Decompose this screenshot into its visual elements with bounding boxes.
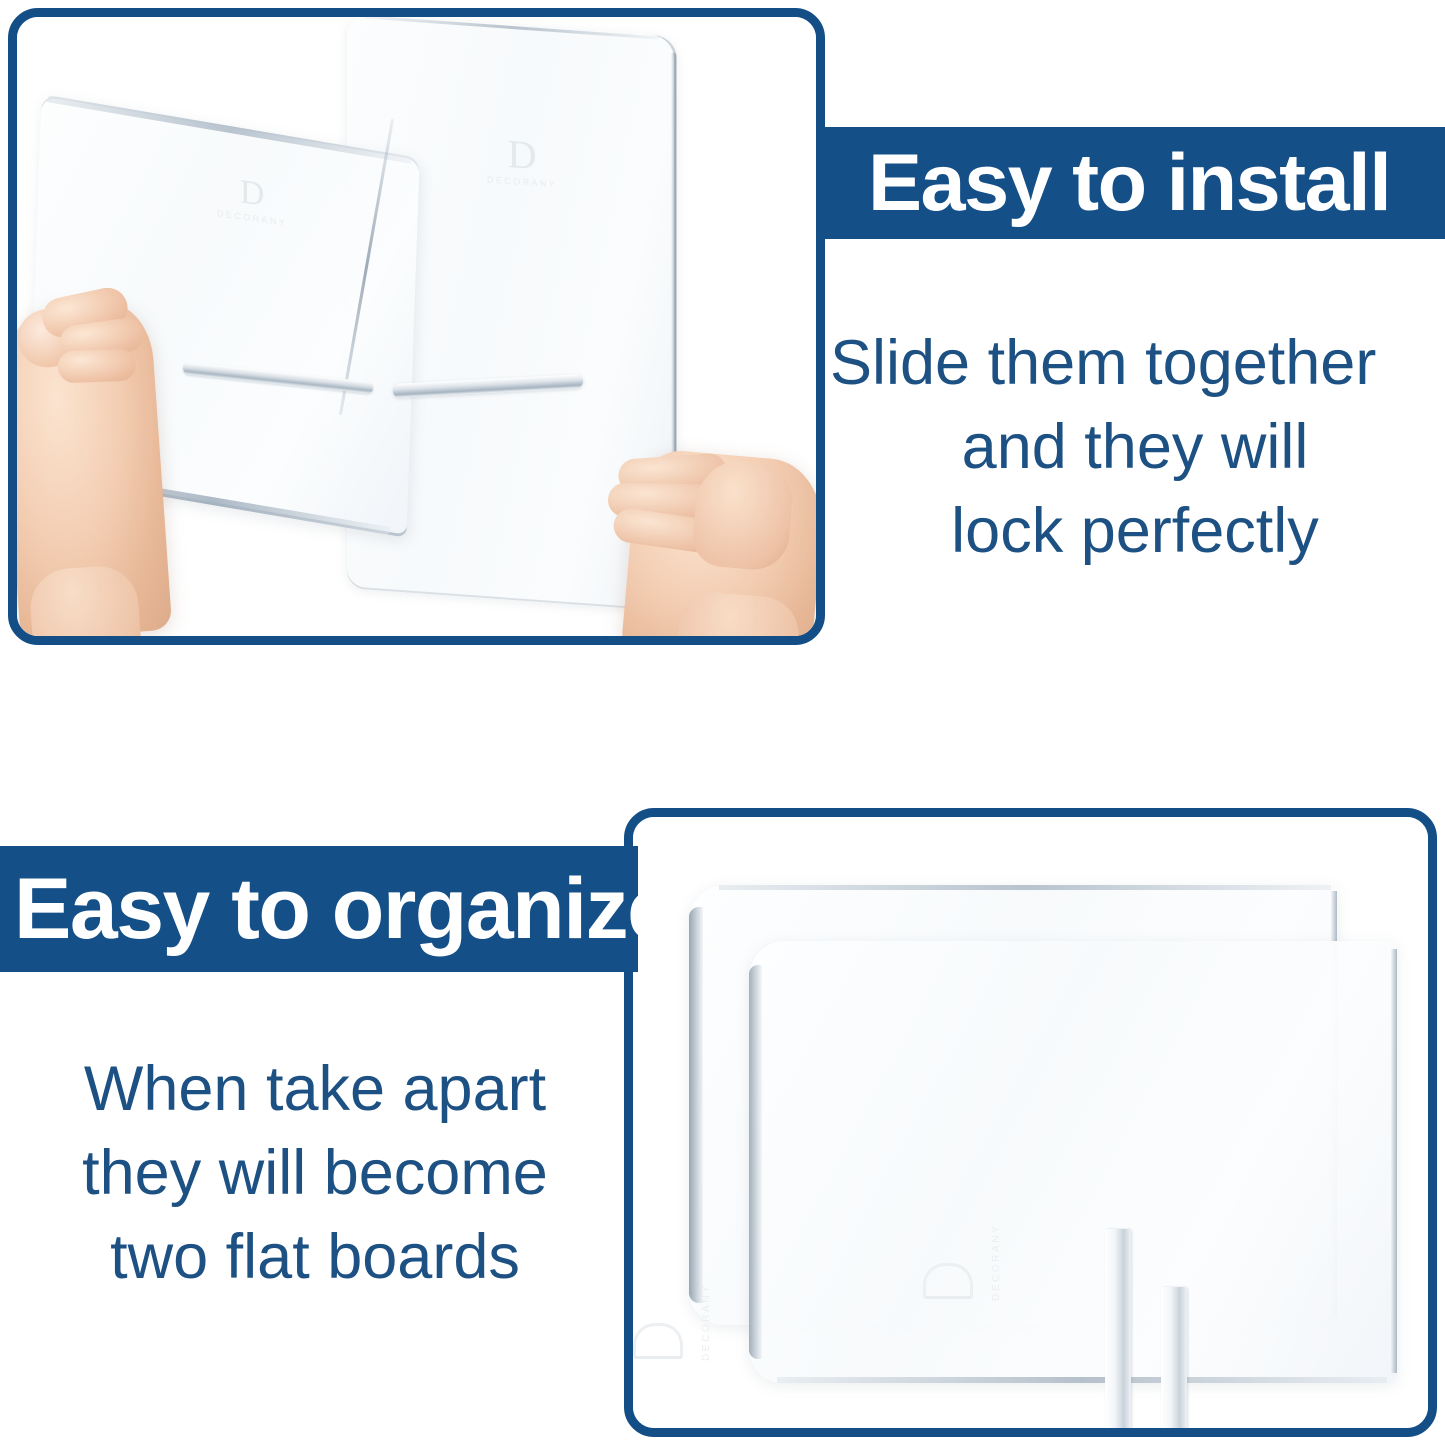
banner-easy-to-install: Easy to install [822, 127, 1445, 239]
banner-easy-to-install-label: Easy to install [868, 143, 1390, 224]
decorany-logo-emboss: DECORANY [923, 1257, 1033, 1315]
copy-line: Slide them together [830, 322, 1440, 406]
board-front-left-edge [749, 965, 762, 1359]
copy-line: and they will [830, 406, 1440, 490]
hand-right-wrist [671, 589, 802, 645]
copy-line: lock perfectly [830, 490, 1440, 574]
banner-easy-to-organize-label: Easy to organize [14, 866, 638, 952]
board-rear-top-edge [719, 885, 1331, 890]
hand-left [8, 300, 172, 640]
decorany-logo-emboss: DECORANY [633, 1317, 743, 1375]
hand-left-wrist [28, 564, 144, 645]
photo-stage: DECORANY DECORANY [633, 817, 1428, 1428]
hand-right [620, 447, 825, 645]
copy-easy-to-install: Slide them together and they will lock p… [830, 322, 1440, 573]
infographic-canvas: D DECORANY D DECORANY [0, 0, 1445, 1445]
hand-left-finger [57, 349, 136, 384]
copy-line: they will become [26, 1132, 604, 1216]
decorany-logo-emboss: D DECORANY [217, 172, 287, 228]
board-rear-left-edge [689, 907, 703, 1303]
logo-wordmark: DECORANY [991, 1224, 1002, 1301]
decorany-logo-emboss: D DECORANY [487, 133, 557, 190]
banner-easy-to-organize: Easy to organize [0, 846, 638, 972]
copy-line: When take apart [26, 1048, 604, 1132]
logo-mark-icon [923, 1263, 973, 1299]
copy-easy-to-organize: When take apart they will become two fla… [26, 1048, 604, 1299]
logo-wordmark: DECORANY [701, 1284, 712, 1361]
hands-sliding-boards-photo: D DECORANY D DECORANY [8, 8, 825, 645]
board-front-acrylic-panel [749, 941, 1397, 1383]
two-flat-boards-photo: DECORANY DECORANY [624, 808, 1437, 1437]
copy-line: two flat boards [26, 1216, 604, 1300]
board-front-right-edge [1391, 949, 1397, 1373]
slot-short-notch [1161, 1287, 1187, 1437]
photo-stage: D DECORANY D DECORANY [17, 17, 816, 636]
board-back-top-edge [365, 15, 659, 39]
logo-mark-icon: D [487, 133, 557, 178]
slot-tall-notch [1105, 1229, 1131, 1437]
logo-mark-icon [633, 1323, 683, 1359]
board-front-bottom-edge [777, 1377, 1387, 1383]
